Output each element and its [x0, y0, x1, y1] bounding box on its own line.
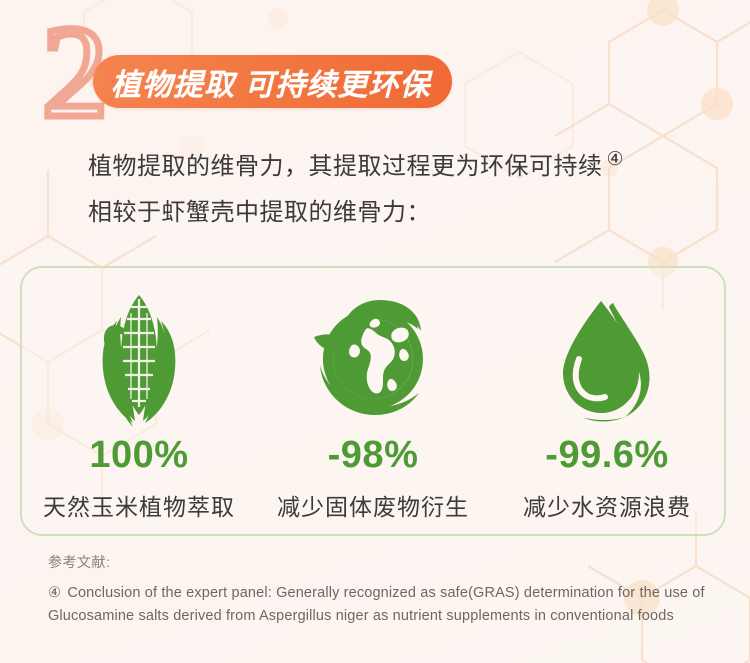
globe-leaf-icon	[308, 284, 438, 434]
stat-column-globe: -98% 减少固体废物衍生	[256, 268, 490, 534]
section-title-pill: 植物提取 可持续更环保	[93, 55, 452, 108]
intro-line-1: 植物提取的维骨力，其提取过程更为环保可持续④	[88, 140, 708, 187]
water-drop-icon	[551, 284, 663, 434]
stat-label: 天然玉米植物萃取	[43, 488, 235, 522]
intro-line-1-text: 植物提取的维骨力，其提取过程更为环保可持续	[88, 153, 603, 180]
stat-column-water: -99.6% 减少水资源浪费	[490, 268, 724, 534]
stat-value: -98%	[328, 436, 419, 474]
section-title-text: 植物提取 可持续更环保	[111, 60, 430, 104]
intro-paragraph: 植物提取的维骨力，其提取过程更为环保可持续④ 相较于虾蟹壳中提取的维骨力：	[88, 140, 708, 239]
reference-text: Conclusion of the expert panel: Generall…	[48, 585, 705, 624]
corn-icon	[91, 284, 187, 434]
stat-value: -99.6%	[545, 436, 668, 474]
page-root: 2 植物提取 可持续更环保 植物提取的维骨力，其提取过程更为环保可持续④ 相较于…	[0, 0, 750, 663]
stat-label: 减少水资源浪费	[523, 488, 691, 522]
intro-line-2: 相较于虾蟹壳中提取的维骨力：	[88, 193, 708, 233]
references-section: 参考文献: ④ Conclusion of the expert panel: …	[48, 552, 718, 628]
stat-value: 100%	[89, 436, 188, 474]
references-title: 参考文献:	[48, 552, 718, 572]
section-header: 2 植物提取 可持续更环保	[0, 0, 750, 150]
stats-card: 100% 天然玉米植物萃取	[20, 266, 726, 536]
reference-marker-4: ④	[48, 585, 61, 601]
references-body: ④ Conclusion of the expert panel: Genera…	[48, 582, 718, 628]
footnote-marker-4: ④	[607, 149, 625, 170]
stat-label: 减少固体废物衍生	[277, 488, 469, 522]
stat-column-corn: 100% 天然玉米植物萃取	[22, 268, 256, 534]
